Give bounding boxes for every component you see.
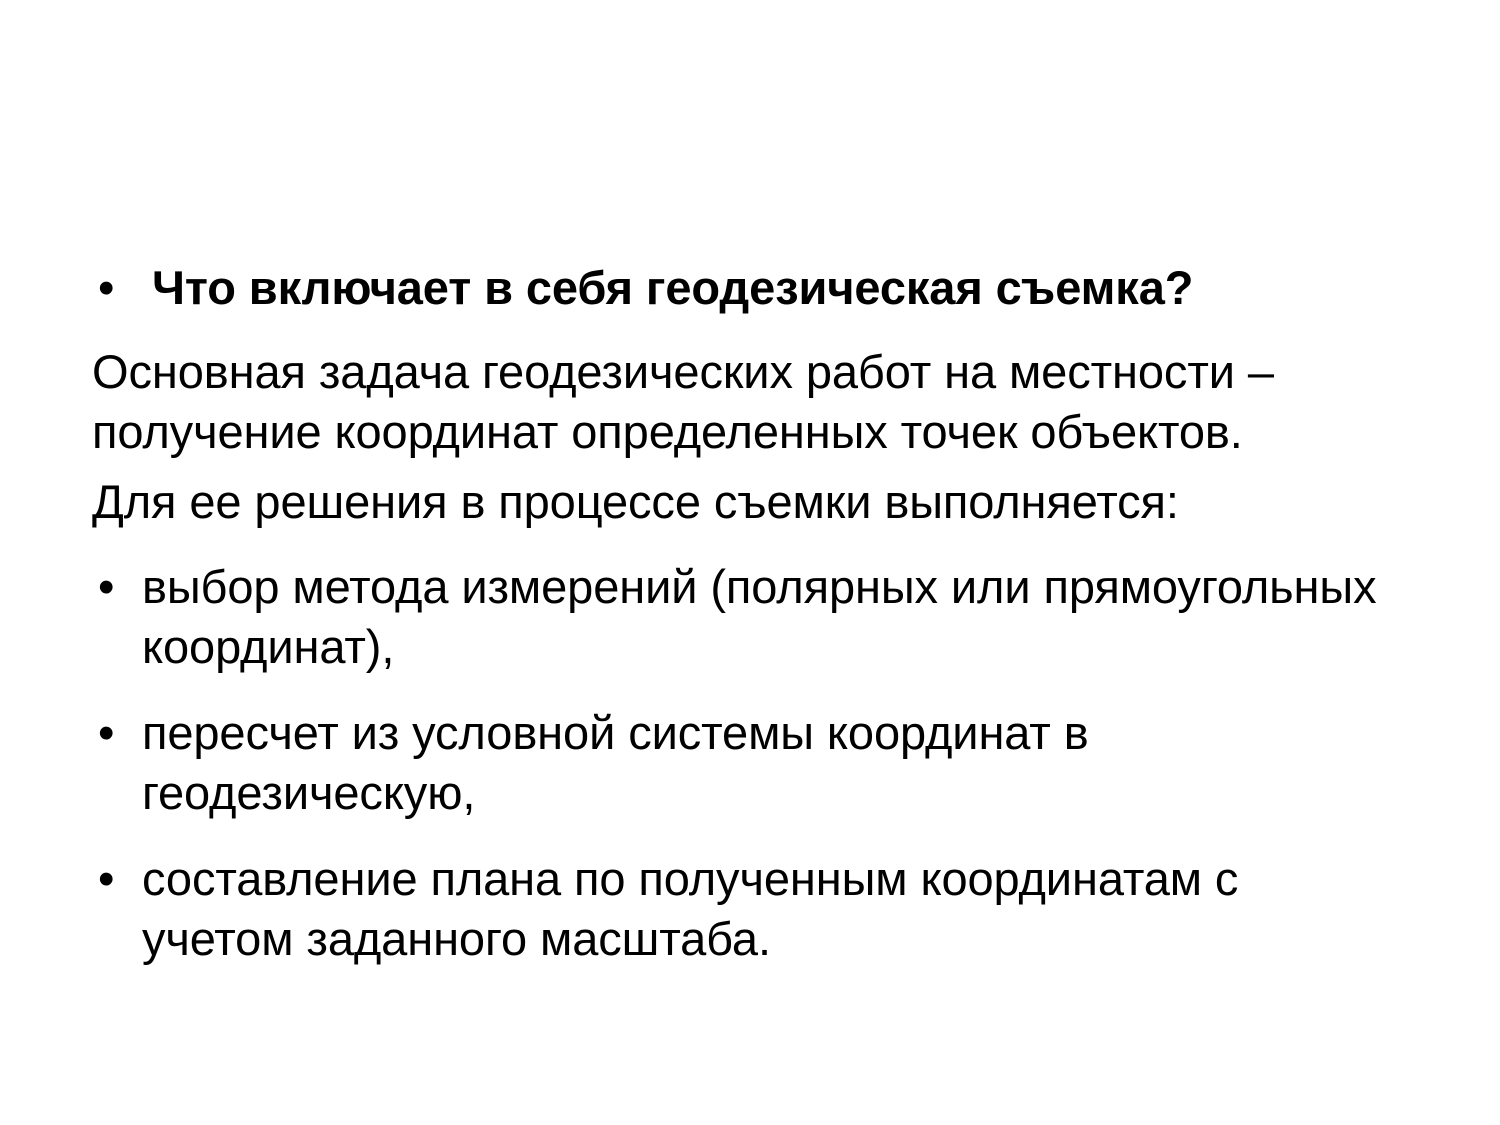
bullet-item-2-text: пересчет из условной системы координат в… — [142, 703, 1396, 823]
bullet-point-icon: • — [98, 258, 124, 318]
bullet-item-3-text: составление плана по полученным координа… — [142, 849, 1396, 969]
bullet-item-1-text: выбор метода измерений (полярных или пря… — [142, 557, 1396, 677]
paragraph-intro[interactable]: Для ее решения в процессе съемки выполня… — [86, 472, 1396, 532]
bullet-point-icon: • — [98, 703, 124, 763]
bullet-item-1[interactable]: • выбор метода измерений (полярных или п… — [86, 557, 1396, 677]
bullet-item-2[interactable]: • пересчет из условной системы координат… — [86, 703, 1396, 823]
bullet-point-icon: • — [98, 849, 124, 909]
bullet-item-question[interactable]: • Что включает в себя геодезическая съем… — [86, 258, 1396, 318]
slide-body-placeholder[interactable]: • Что включает в себя геодезическая съем… — [86, 258, 1396, 970]
paragraph-lead-text: Основная задача геодезических работ на м… — [92, 342, 1396, 462]
bullet-item-question-text: Что включает в себя геодезическая съемка… — [152, 258, 1396, 318]
slide-canvas: • Что включает в себя геодезическая съем… — [0, 0, 1500, 1125]
bullet-item-3[interactable]: • составление плана по полученным коорди… — [86, 849, 1396, 969]
paragraph-lead[interactable]: Основная задача геодезических работ на м… — [86, 342, 1396, 462]
paragraph-intro-text: Для ее решения в процессе съемки выполня… — [92, 472, 1396, 532]
bullet-point-icon: • — [98, 557, 124, 617]
